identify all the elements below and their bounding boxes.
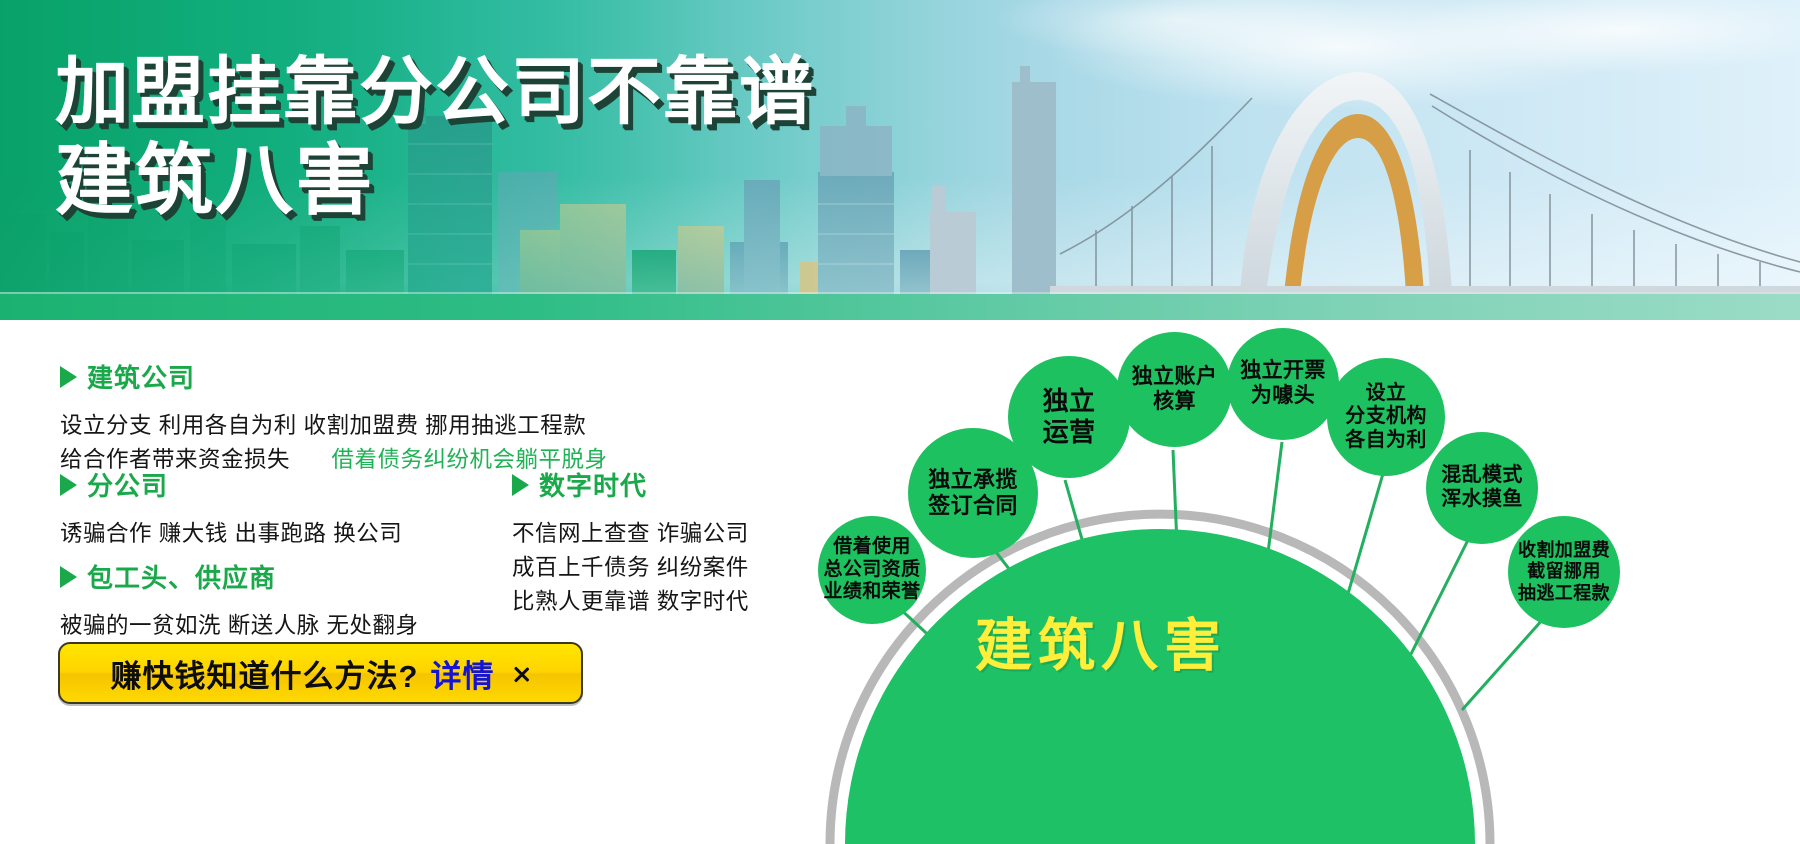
section-body: 被骗的一贫如洗 断送人脉 无处翻身 [60,609,580,643]
hero-title-line-1: 加盟挂靠分公司不靠谱 [55,52,815,132]
bubble-line: 设立 [1366,382,1407,406]
cta-link-label: 详情 [430,651,494,696]
body-line: 不信网上查查 诈骗公司 [512,517,792,551]
bubble-line: 独立 [1043,386,1096,417]
section-heading: 数字时代 [512,466,792,503]
bubble-line: 各自为利 [1345,429,1427,453]
triangle-bullet-icon [512,474,529,496]
bubble-line: 签订合同 [928,493,1018,519]
hero-banner: 加盟挂靠分公司不靠谱 建筑八害 [0,0,1800,320]
bubble-line: 业绩和荣誉 [823,581,920,603]
bubble-line: 截留挪用 [1527,561,1601,582]
triangle-bullet-icon [60,474,77,496]
bubble-line: 为噱头 [1251,384,1315,409]
bubble-line: 总公司资质 [823,559,920,581]
body-line: 设立分支 利用各自为利 收割加盟费 挪用抽逃工程款 [60,409,700,443]
section-heading: 包工头、供应商 [60,558,580,595]
bubble-line: 借着使用 [833,536,911,558]
hero-title: 加盟挂靠分公司不靠谱 建筑八害 [55,52,815,222]
triangle-bullet-icon [60,566,77,588]
eight-harms-diagram: 建筑八害 借着使用 总公司资质 业绩和荣誉 独立承揽 签订合同 独立 运营 独立… [790,320,1800,844]
hero-title-line-2: 建筑八害 [55,138,815,222]
dome-label: 建筑八害 [975,600,1227,682]
left-content-panel: 建筑公司 设立分支 利用各自为利 收割加盟费 挪用抽逃工程款 给合作者带来资金损… [0,320,790,844]
section-branch-company: 分公司 诱骗合作 赚大钱 出事跑路 换公司 [60,466,520,551]
triangle-bullet-icon [60,366,77,388]
bubble-franchise-fee-harvest[interactable]: 收割加盟费 截留挪用 抽逃工程款 [1508,516,1620,628]
bubble-line: 浑水摸鱼 [1441,488,1523,512]
body-line: 被骗的一贫如洗 断送人脉 无处翻身 [60,609,580,643]
body-line: 诱骗合作 赚大钱 出事跑路 换公司 [60,517,520,551]
cta-label: 赚快钱知道什么方法? [111,651,419,696]
section-construction-company: 建筑公司 设立分支 利用各自为利 收割加盟费 挪用抽逃工程款 给合作者带来资金损… [60,358,700,477]
ground-strip [0,294,1800,320]
section-heading: 分公司 [60,466,520,503]
bubble-setup-branches[interactable]: 设立 分支机构 各自为利 [1327,358,1445,476]
bubble-chaotic-mode[interactable]: 混乱模式 浑水摸鱼 [1426,432,1538,544]
bubble-line: 核算 [1153,390,1196,415]
bubble-borrowed-qualification[interactable]: 借着使用 总公司资质 业绩和荣誉 [818,516,926,624]
section-heading-label: 分公司 [87,466,168,503]
section-digital-era: 数字时代 不信网上查查 诈骗公司 成百上千债务 纠纷案件 比熟人更靠谱 数字时代 [512,466,792,620]
bubble-independent-operation[interactable]: 独立 运营 [1008,356,1130,478]
bubble-line: 抽逃工程款 [1518,583,1610,604]
bubble-line: 收割加盟费 [1518,540,1610,561]
body-line: 比熟人更靠谱 数字时代 [512,585,792,619]
bubble-line: 独立账户 [1132,365,1218,390]
bubble-line: 运营 [1043,417,1096,448]
dome-shape [845,529,1475,844]
bubble-line: 独立开票 [1240,359,1326,384]
section-heading-label: 建筑公司 [87,358,195,395]
bubble-independent-invoicing[interactable]: 独立开票 为噱头 [1227,328,1339,440]
section-heading: 建筑公司 [60,358,700,395]
bubble-independent-account[interactable]: 独立账户 核算 [1117,332,1232,447]
section-body: 不信网上查查 诈骗公司 成百上千债务 纠纷案件 比熟人更靠谱 数字时代 [512,517,792,620]
cta-button[interactable]: 赚快钱知道什么方法? 详情 [58,642,583,704]
bubble-line: 分支机构 [1345,405,1427,429]
chevron-right-icon [514,659,530,687]
section-heading-label: 数字时代 [539,466,647,503]
bubble-line: 混乱模式 [1441,464,1523,488]
section-contractor-supplier: 包工头、供应商 被骗的一贫如洗 断送人脉 无处翻身 [60,558,580,643]
section-body: 诱骗合作 赚大钱 出事跑路 换公司 [60,517,520,551]
section-heading-label: 包工头、供应商 [87,558,276,595]
bubble-line: 独立承揽 [928,467,1018,493]
body-line: 成百上千债务 纠纷案件 [512,551,792,585]
